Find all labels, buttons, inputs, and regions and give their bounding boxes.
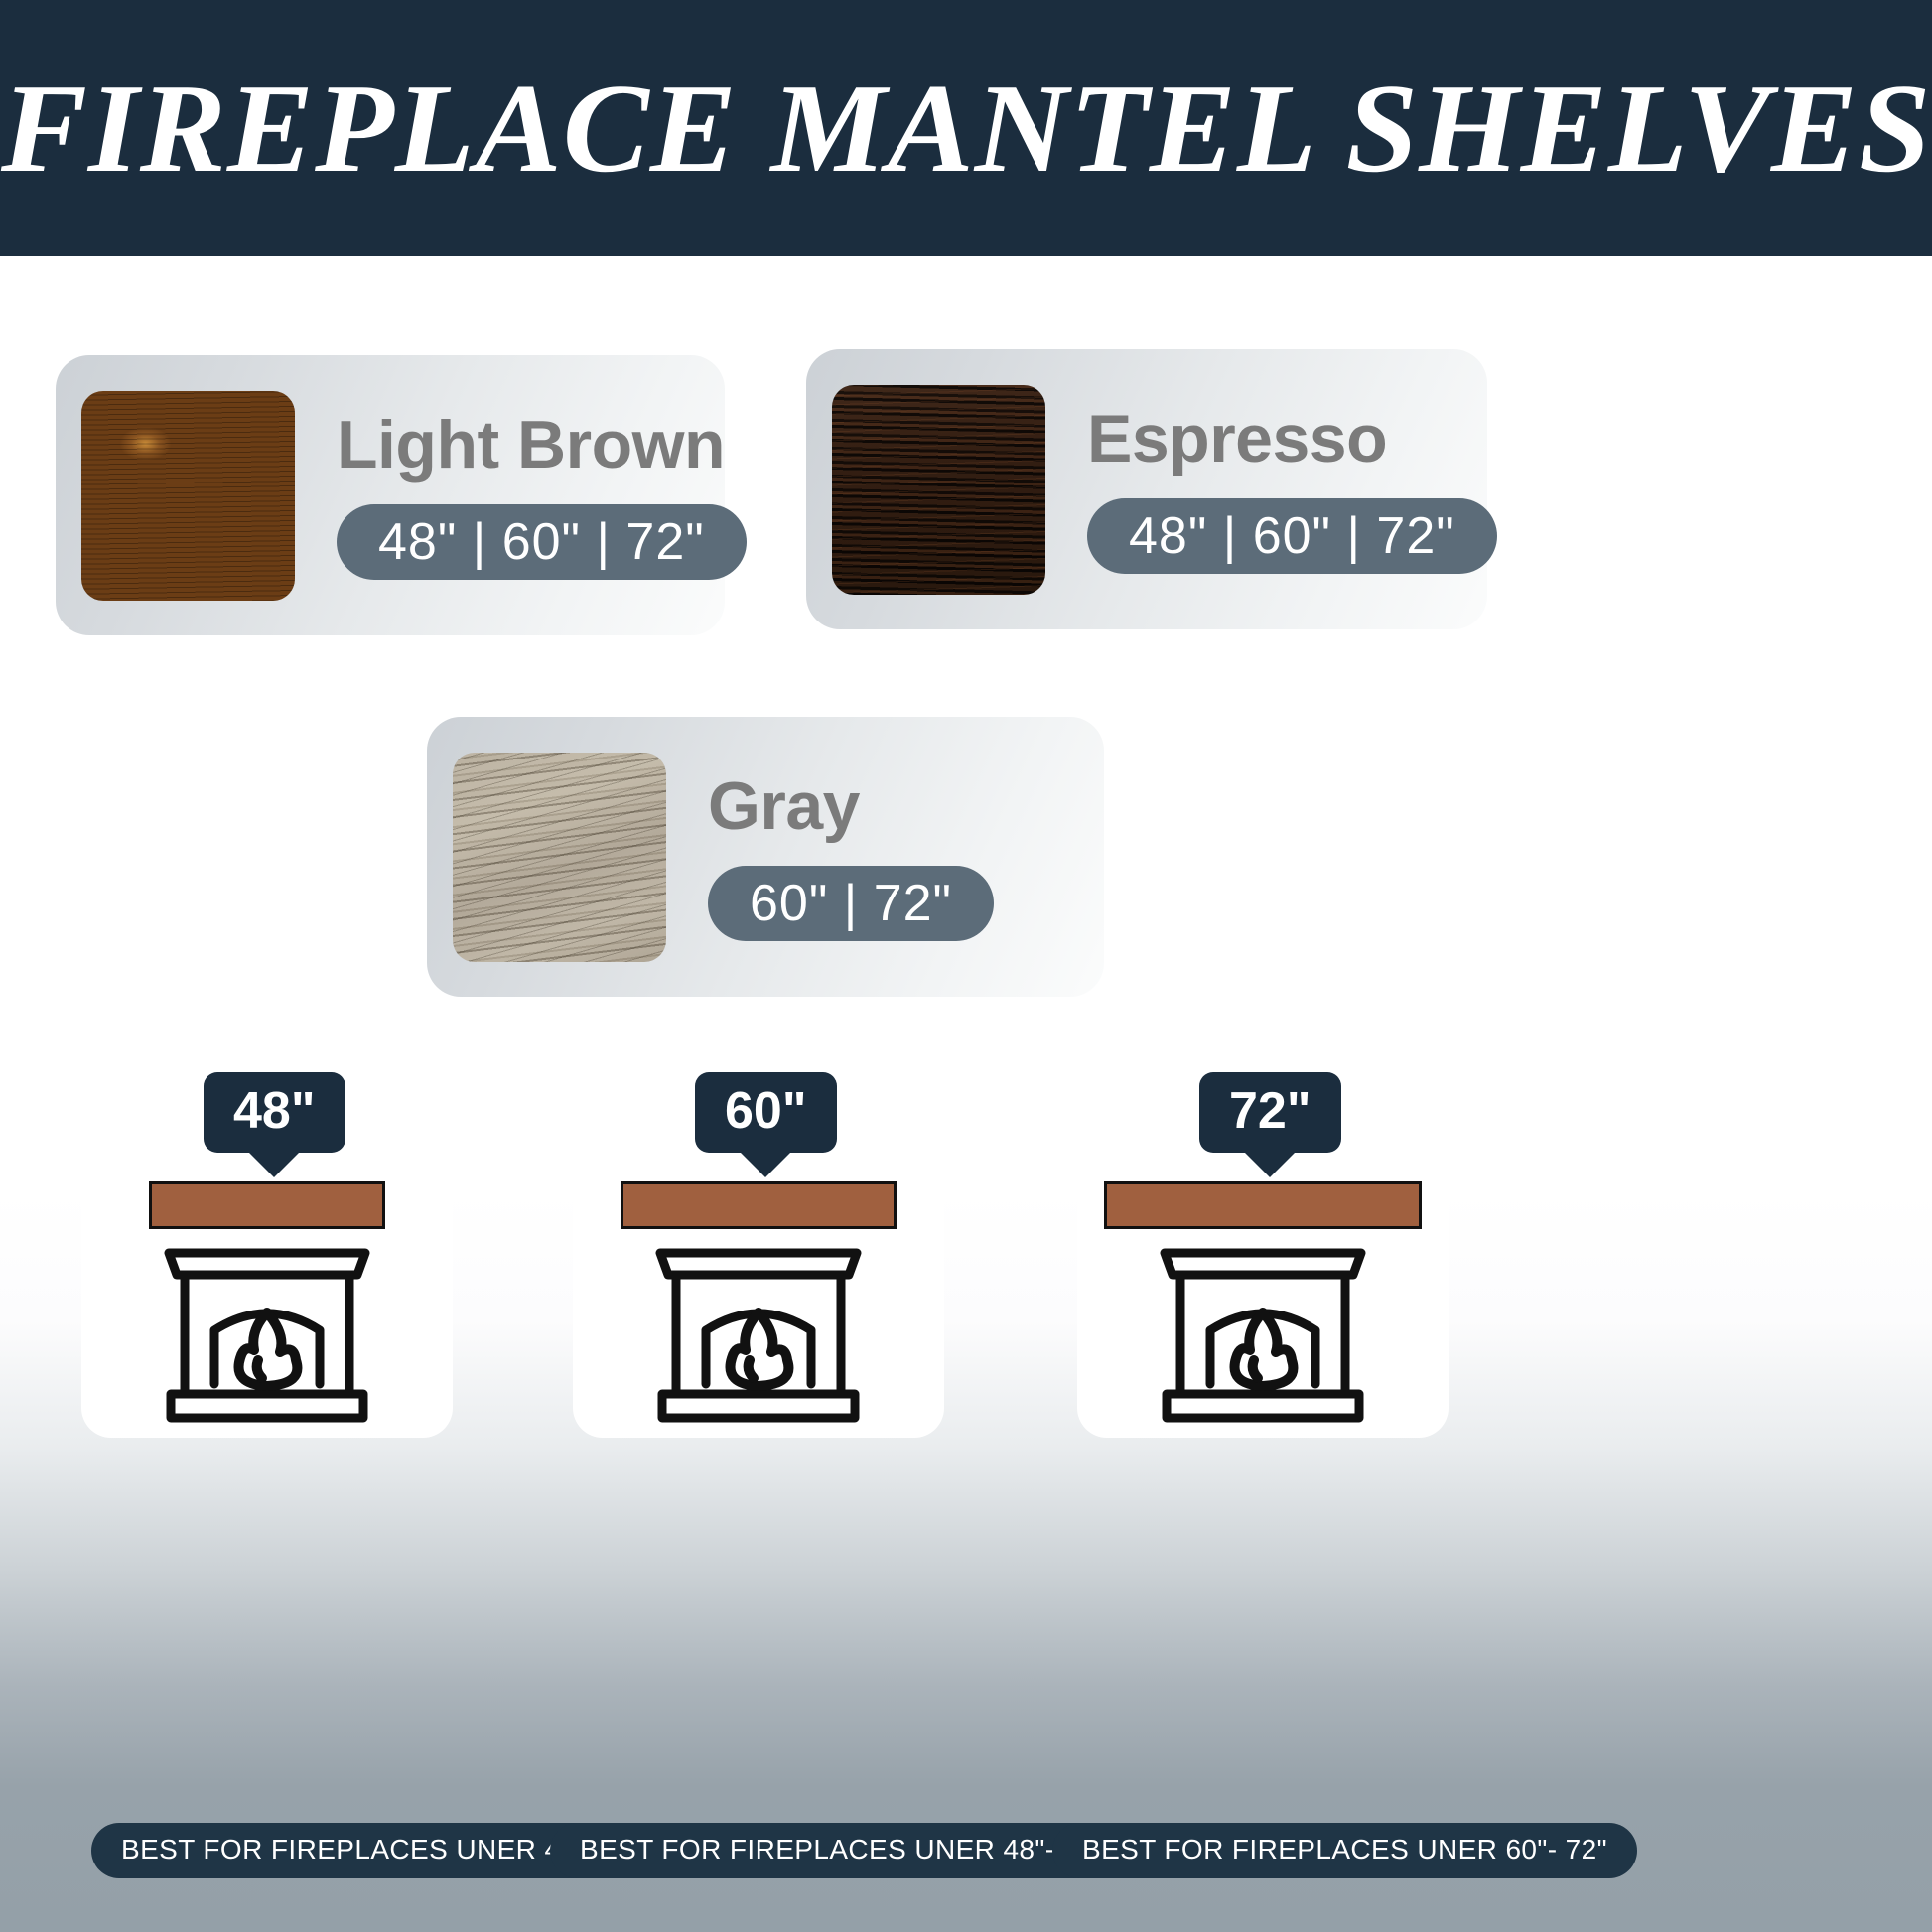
fireplace-icon: [646, 1235, 871, 1430]
fireplace-icon: [1151, 1235, 1375, 1430]
light-brown-wood-swatch: [81, 391, 295, 601]
size-badge-48: 48": [204, 1072, 345, 1153]
finish-card-espresso[interactable]: Espresso 48" | 60" | 72": [806, 349, 1487, 629]
finish-name-label: Gray: [708, 772, 994, 840]
fireplace-illustration-60: [573, 1181, 944, 1430]
size-badge-72: 72": [1199, 1072, 1341, 1153]
espresso-wood-swatch: [832, 385, 1045, 595]
finish-sizes-pill[interactable]: 60" | 72": [708, 866, 994, 941]
mantel-shelf-bar: [149, 1181, 385, 1229]
finish-card-gray[interactable]: Gray 60" | 72": [427, 717, 1104, 997]
fireplace-illustration-48: [81, 1181, 453, 1430]
mantel-shelf-bar: [621, 1181, 897, 1229]
size-caption-60: BEST FOR FIREPLACES UNER 48"- 60": [550, 1823, 1135, 1878]
size-badge-60: 60": [695, 1072, 837, 1153]
fireplace-icon: [155, 1235, 379, 1430]
finish-sizes-pill[interactable]: 48" | 60" | 72": [1087, 498, 1497, 574]
mantel-shelf-bar: [1104, 1181, 1422, 1229]
page-header: FIREPLACE MANTEL SHELVES: [0, 0, 1932, 256]
finish-card-light-brown[interactable]: Light Brown 48" | 60" | 72": [56, 355, 725, 635]
gray-wood-swatch: [453, 753, 666, 962]
finish-sizes-pill[interactable]: 48" | 60" | 72": [337, 504, 747, 580]
finish-name-label: Light Brown: [337, 411, 747, 479]
fireplace-illustration-72: [1077, 1181, 1449, 1430]
size-caption-72: BEST FOR FIREPLACES UNER 60"- 72": [1052, 1823, 1637, 1878]
infographic-page: FIREPLACE MANTEL SHELVES Light Brown 48"…: [0, 0, 1932, 1932]
finish-card-body: Gray 60" | 72": [708, 772, 994, 941]
page-title: FIREPLACE MANTEL SHELVES: [1, 56, 1932, 202]
finish-name-label: Espresso: [1087, 405, 1497, 473]
finish-card-body: Espresso 48" | 60" | 72": [1087, 405, 1497, 574]
finish-card-body: Light Brown 48" | 60" | 72": [337, 411, 747, 580]
size-caption-48: BEST FOR FIREPLACES UNER 48": [91, 1823, 617, 1878]
